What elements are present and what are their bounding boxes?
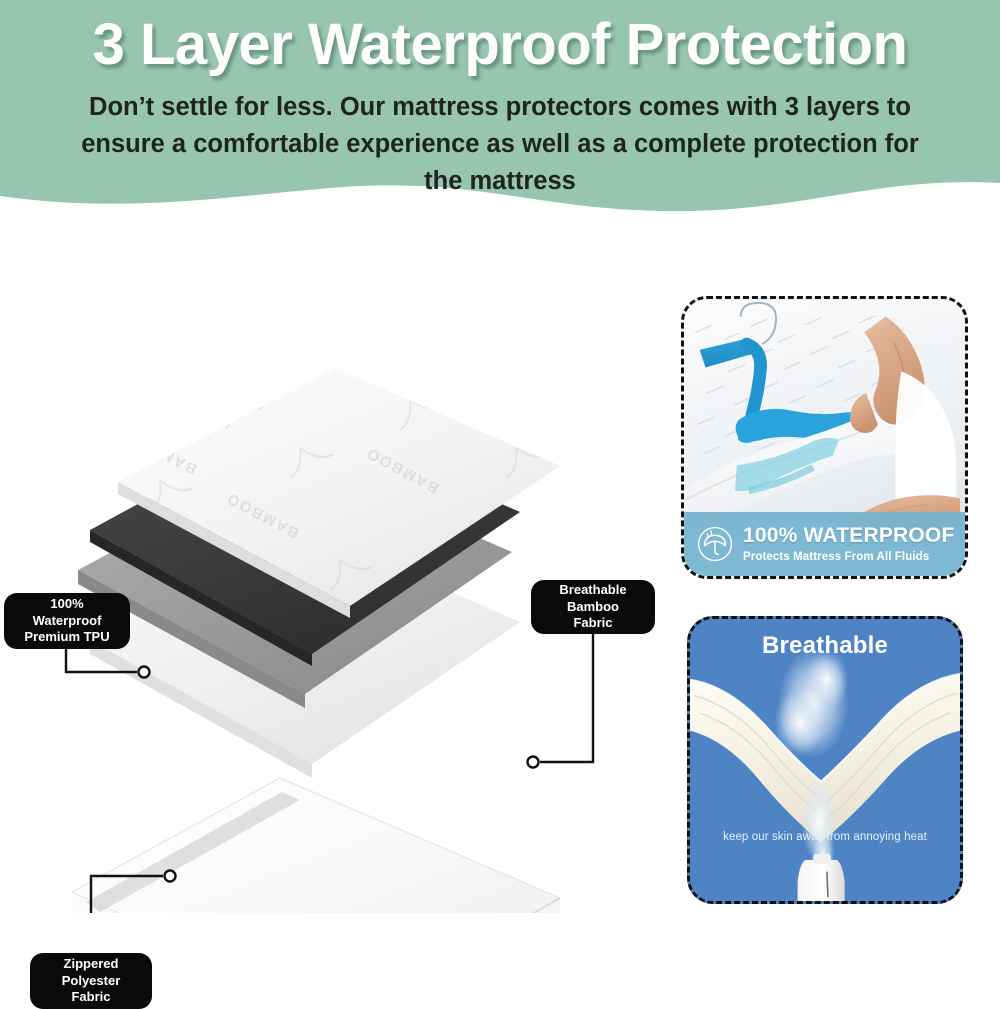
breathable-caption: keep our skin away from annoying heat: [690, 831, 960, 843]
callout-breathable-bamboo[interactable]: Breathable Bamboo Fabric: [531, 580, 655, 634]
leader-dot-tpu: [139, 667, 150, 678]
waterproof-subline: Protects Mattress From All Fluids: [743, 551, 954, 563]
header-text-group: 3 Layer Waterproof Protection Don’t sett…: [0, 0, 1000, 200]
callout-waterproof-tpu[interactable]: 100% Waterproof Premium TPU: [4, 593, 130, 649]
waterproof-caption-bar: 100% WATERPROOF Protects Mattress From A…: [684, 512, 965, 576]
feature-panel-breathable[interactable]: Breathable keep our skin away from annoy…: [687, 616, 963, 904]
breathable-illustration: [690, 619, 960, 901]
breathable-title: Breathable: [690, 632, 960, 660]
waterproof-headline: 100% WATERPROOF: [743, 525, 954, 547]
waterproof-caption-text: 100% WATERPROOF Protects Mattress From A…: [743, 525, 954, 562]
umbrella-icon: [696, 525, 734, 563]
exploded-layers-illustration: BAMBOO BAMBOO BAMBOO: [0, 230, 660, 913]
layer-diagram: BAMBOO BAMBOO BAMBOO: [0, 230, 660, 913]
leader-dot-zipper: [165, 871, 176, 882]
header-band: 3 Layer Waterproof Protection Don’t sett…: [0, 0, 1000, 230]
breathable-photo: [690, 619, 960, 901]
page-title: 3 Layer Waterproof Protection: [0, 0, 1000, 79]
page-subtitle: Don’t settle for less. Our mattress prot…: [80, 89, 920, 201]
callout-zippered-polyester[interactable]: Zippered Polyester Fabric: [30, 953, 152, 1009]
feature-panel-waterproof[interactable]: 100% WATERPROOF Protects Mattress From A…: [681, 296, 968, 579]
mattress-base-box: [72, 778, 560, 913]
leader-dot-bamboo: [528, 757, 539, 768]
